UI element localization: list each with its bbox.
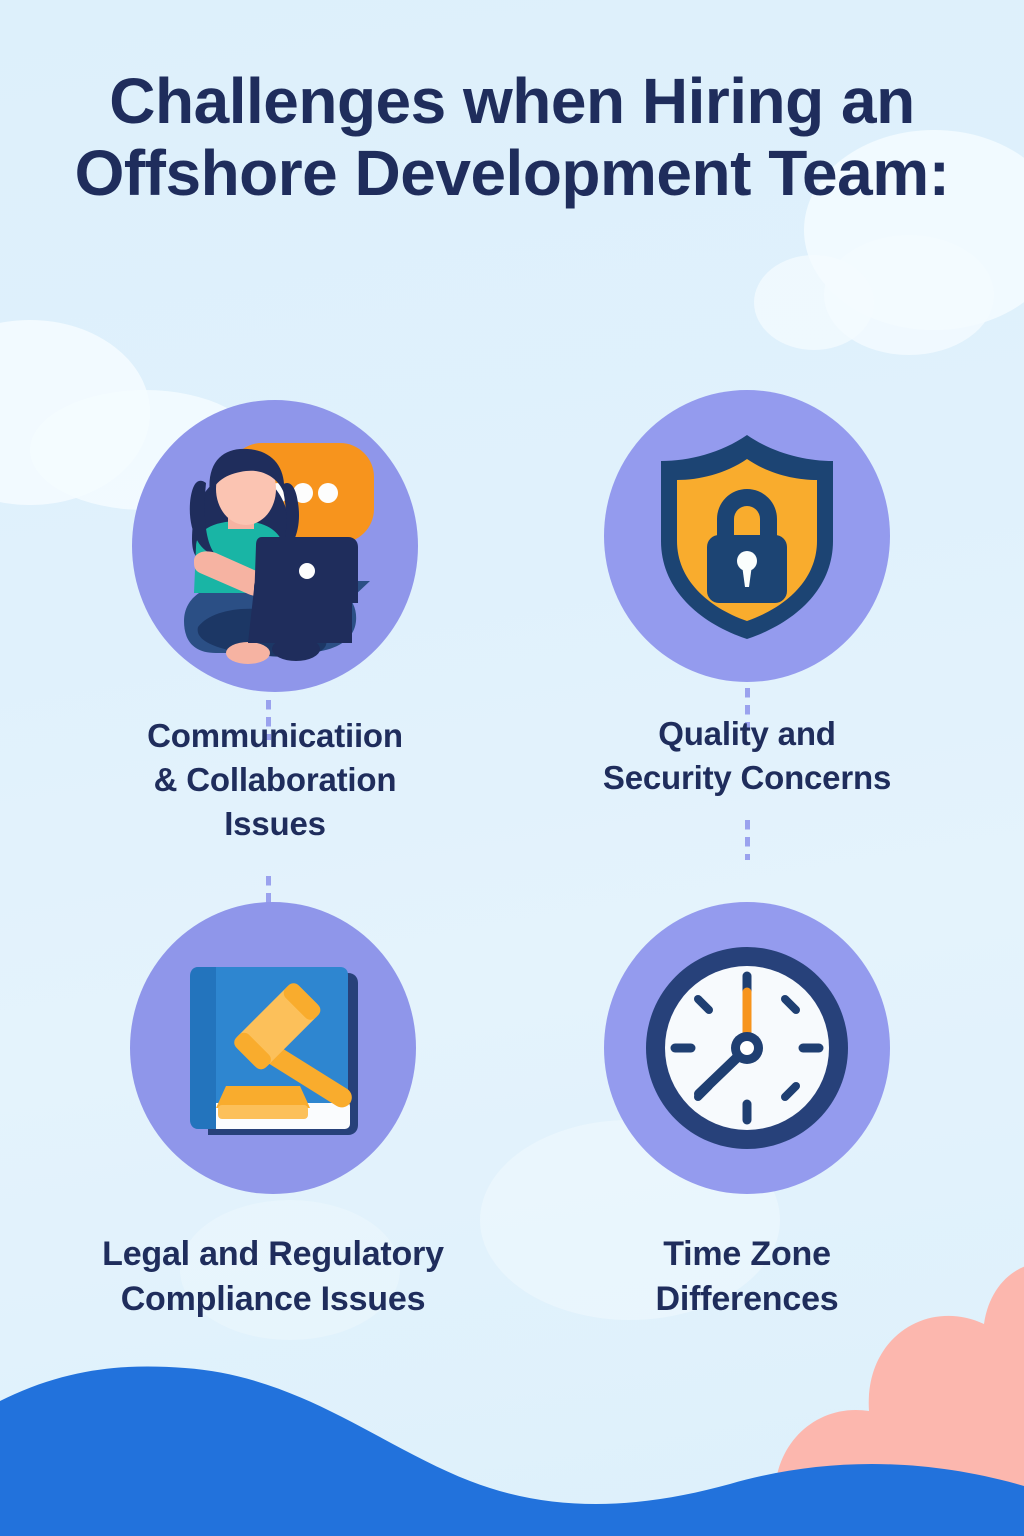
page-title: Challenges when Hiring an Offshore Devel… xyxy=(0,66,1024,209)
cloud-shape-top-right-lobe-small xyxy=(754,255,874,350)
person-laptop-chat-icon xyxy=(150,421,400,671)
challenge-label-time-zone: Time Zone Differences xyxy=(656,1232,839,1322)
connector-dash-right-lower xyxy=(745,820,750,860)
shield-lock-icon xyxy=(647,429,847,644)
icon-circle-time-zone xyxy=(604,902,890,1194)
challenge-label-legal-compliance: Legal and Regulatory Compliance Issues xyxy=(102,1232,444,1322)
infographic-poster: Challenges when Hiring an Offshore Devel… xyxy=(0,0,1024,1536)
challenge-label-quality-security: Quality and Security Concerns xyxy=(603,712,891,800)
challenge-item-quality-security: Quality and Security Concerns xyxy=(517,390,977,800)
blue-wave-decoration xyxy=(0,1306,1024,1536)
icon-circle-quality-security xyxy=(604,390,890,682)
icon-circle-legal-compliance xyxy=(130,902,416,1194)
challenge-item-legal-compliance: Legal and Regulatory Compliance Issues xyxy=(43,902,503,1322)
law-book-gavel-icon xyxy=(166,941,381,1156)
icon-circle-communication xyxy=(132,400,418,692)
challenge-label-communication: Communicatiion & Collaboration Issues xyxy=(147,714,403,846)
clock-icon xyxy=(641,942,853,1154)
cloud-shape-top-right-lobe xyxy=(824,235,994,355)
challenge-item-communication: Communicatiion & Collaboration Issues xyxy=(45,400,505,846)
challenge-item-time-zone: Time Zone Differences xyxy=(517,902,977,1322)
